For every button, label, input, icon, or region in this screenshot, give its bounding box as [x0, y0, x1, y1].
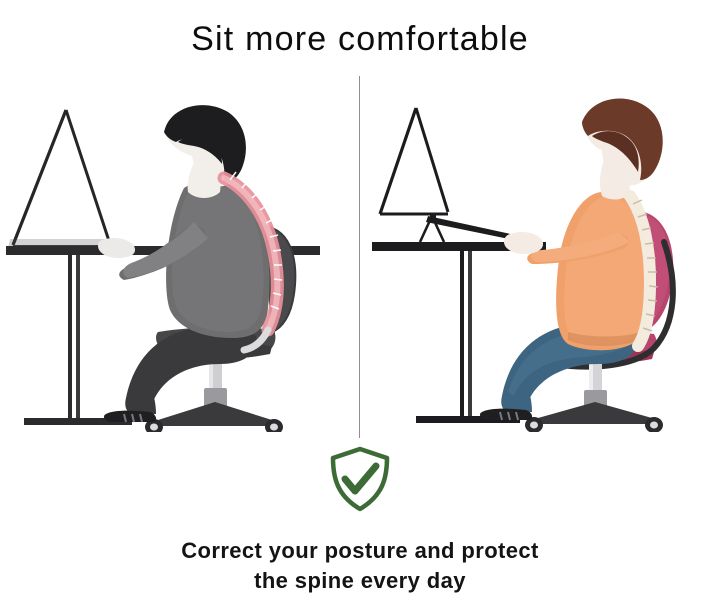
- caption-line-2: the spine every day: [0, 566, 720, 596]
- caption-line-1: Correct your posture and protect: [0, 536, 720, 566]
- shoe-right: [480, 409, 532, 420]
- poster-canvas: Sit more comfortable: [0, 0, 720, 612]
- bad-posture-panel: [6, 96, 350, 432]
- laptop-left: [8, 110, 114, 251]
- laptop-right: [380, 108, 538, 245]
- desk-leg-right: [460, 251, 464, 419]
- chair-base-left: [152, 402, 278, 426]
- page-title: Sit more comfortable: [0, 18, 720, 60]
- chair-base-right: [532, 402, 658, 424]
- pants-left: [125, 327, 256, 414]
- shield-check-icon: [328, 446, 392, 512]
- caption-text: Correct your posture and protect the spi…: [0, 536, 720, 596]
- panel-divider: [359, 76, 360, 438]
- shield-check-badge: [328, 446, 392, 512]
- shoe-left: [104, 411, 156, 422]
- good-posture-panel: [372, 96, 716, 432]
- head-right: [582, 99, 663, 200]
- desk-leg-left: [68, 255, 72, 421]
